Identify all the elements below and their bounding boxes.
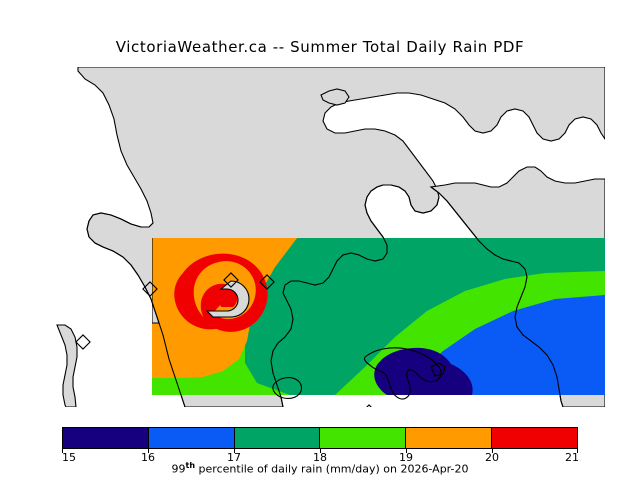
caption-prefix: 99: [172, 463, 186, 476]
colorbar-caption: 99th percentile of daily rain (mm/day) o…: [0, 461, 640, 476]
colorbar-band-18-19[interactable]: [320, 428, 406, 448]
contour-field-group: [87, 213, 605, 395]
weather-map-page: VictoriaWeather.ca -- Summer Total Daily…: [0, 0, 640, 480]
map-panel[interactable]: [35, 67, 605, 407]
map-svg[interactable]: [35, 67, 605, 407]
colorbar[interactable]: [62, 427, 578, 449]
colorbar-band-15-16[interactable]: [63, 428, 149, 448]
caption-superscript: th: [186, 461, 196, 470]
colorbar-band-19-20[interactable]: [406, 428, 492, 448]
caption-rest: percentile of daily rain (mm/day) on 202…: [195, 463, 468, 476]
colorbar-bands[interactable]: [62, 427, 578, 449]
colorbar-band-16-17[interactable]: [149, 428, 235, 448]
colorbar-band-20-21[interactable]: [492, 428, 577, 448]
page-title: VictoriaWeather.ca -- Summer Total Daily…: [0, 38, 640, 56]
colorbar-band-17-18[interactable]: [235, 428, 321, 448]
